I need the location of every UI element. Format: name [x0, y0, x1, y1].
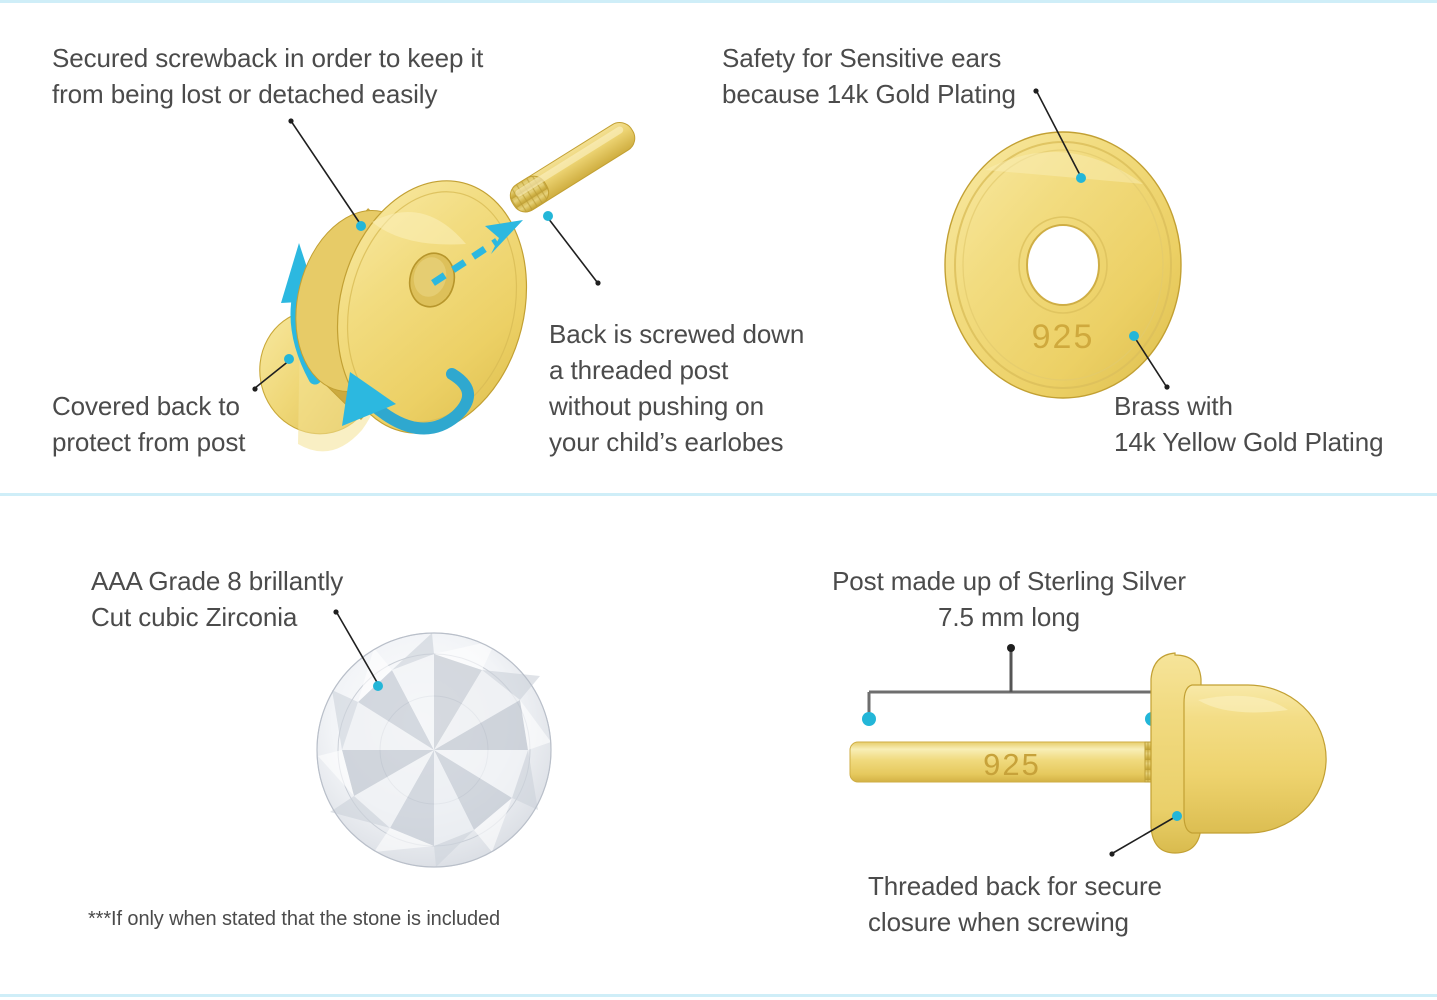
sterling-post-art: 925	[850, 644, 1326, 857]
callout-aaa-grade-zirconia: AAA Grade 8 brillantly Cut cubic Zirconi…	[91, 563, 421, 635]
callout-brass-gold-plating: Brass with 14k Yellow Gold Plating	[1114, 388, 1437, 460]
cubic-zirconia-gem	[317, 609, 551, 867]
callout-safety-sensitive-ears: Safety for Sensitive ears because 14k Go…	[722, 40, 1052, 112]
callout-threaded-back-closure: Threaded back for secure closure when sc…	[868, 868, 1208, 940]
leader-dots-panel4	[1172, 811, 1182, 821]
curved-rotation-arrow-up-icon	[281, 243, 318, 378]
threaded-post-pin	[505, 117, 640, 217]
section-divider	[0, 493, 1437, 496]
infographic-root: 925	[0, 0, 1437, 1000]
callout-stone-included-note: ***If only when stated that the stone is…	[88, 906, 588, 933]
callout-post-sterling-silver: Post made up of Sterling Silver 7.5 mm l…	[829, 563, 1189, 635]
callout-covered-back: Covered back to protect from post	[52, 388, 312, 460]
callout-secured-screwback: Secured screwback in order to keep it fr…	[52, 40, 572, 112]
callout-back-screwed-down: Back is screwed down a threaded post wit…	[549, 316, 849, 460]
leader-dots-panel2	[1076, 173, 1139, 341]
leader-lines-panel1	[255, 121, 597, 388]
dimension-bracket-icon	[862, 644, 1159, 726]
screwback-disc	[278, 161, 553, 454]
post-stamp-925: 925	[983, 747, 1041, 782]
leader-dots-panel1	[284, 211, 553, 364]
curved-rotation-arrow-down-icon	[342, 372, 468, 429]
top-border	[0, 0, 1437, 3]
gold-disc-art: 925	[945, 88, 1181, 398]
bottom-border	[0, 994, 1437, 997]
leader-endpoints-panel2	[1033, 88, 1169, 389]
leader-endpoints-panel4	[1109, 851, 1114, 856]
disc-stamp-925: 925	[1032, 318, 1095, 356]
leader-dots-panel3	[373, 681, 383, 691]
infographic-artwork: 925	[0, 0, 1437, 1000]
leader-lines-panel2	[1037, 92, 1166, 386]
dashed-insert-arrow-icon	[433, 220, 523, 283]
leader-lines-panel4	[1113, 817, 1175, 853]
